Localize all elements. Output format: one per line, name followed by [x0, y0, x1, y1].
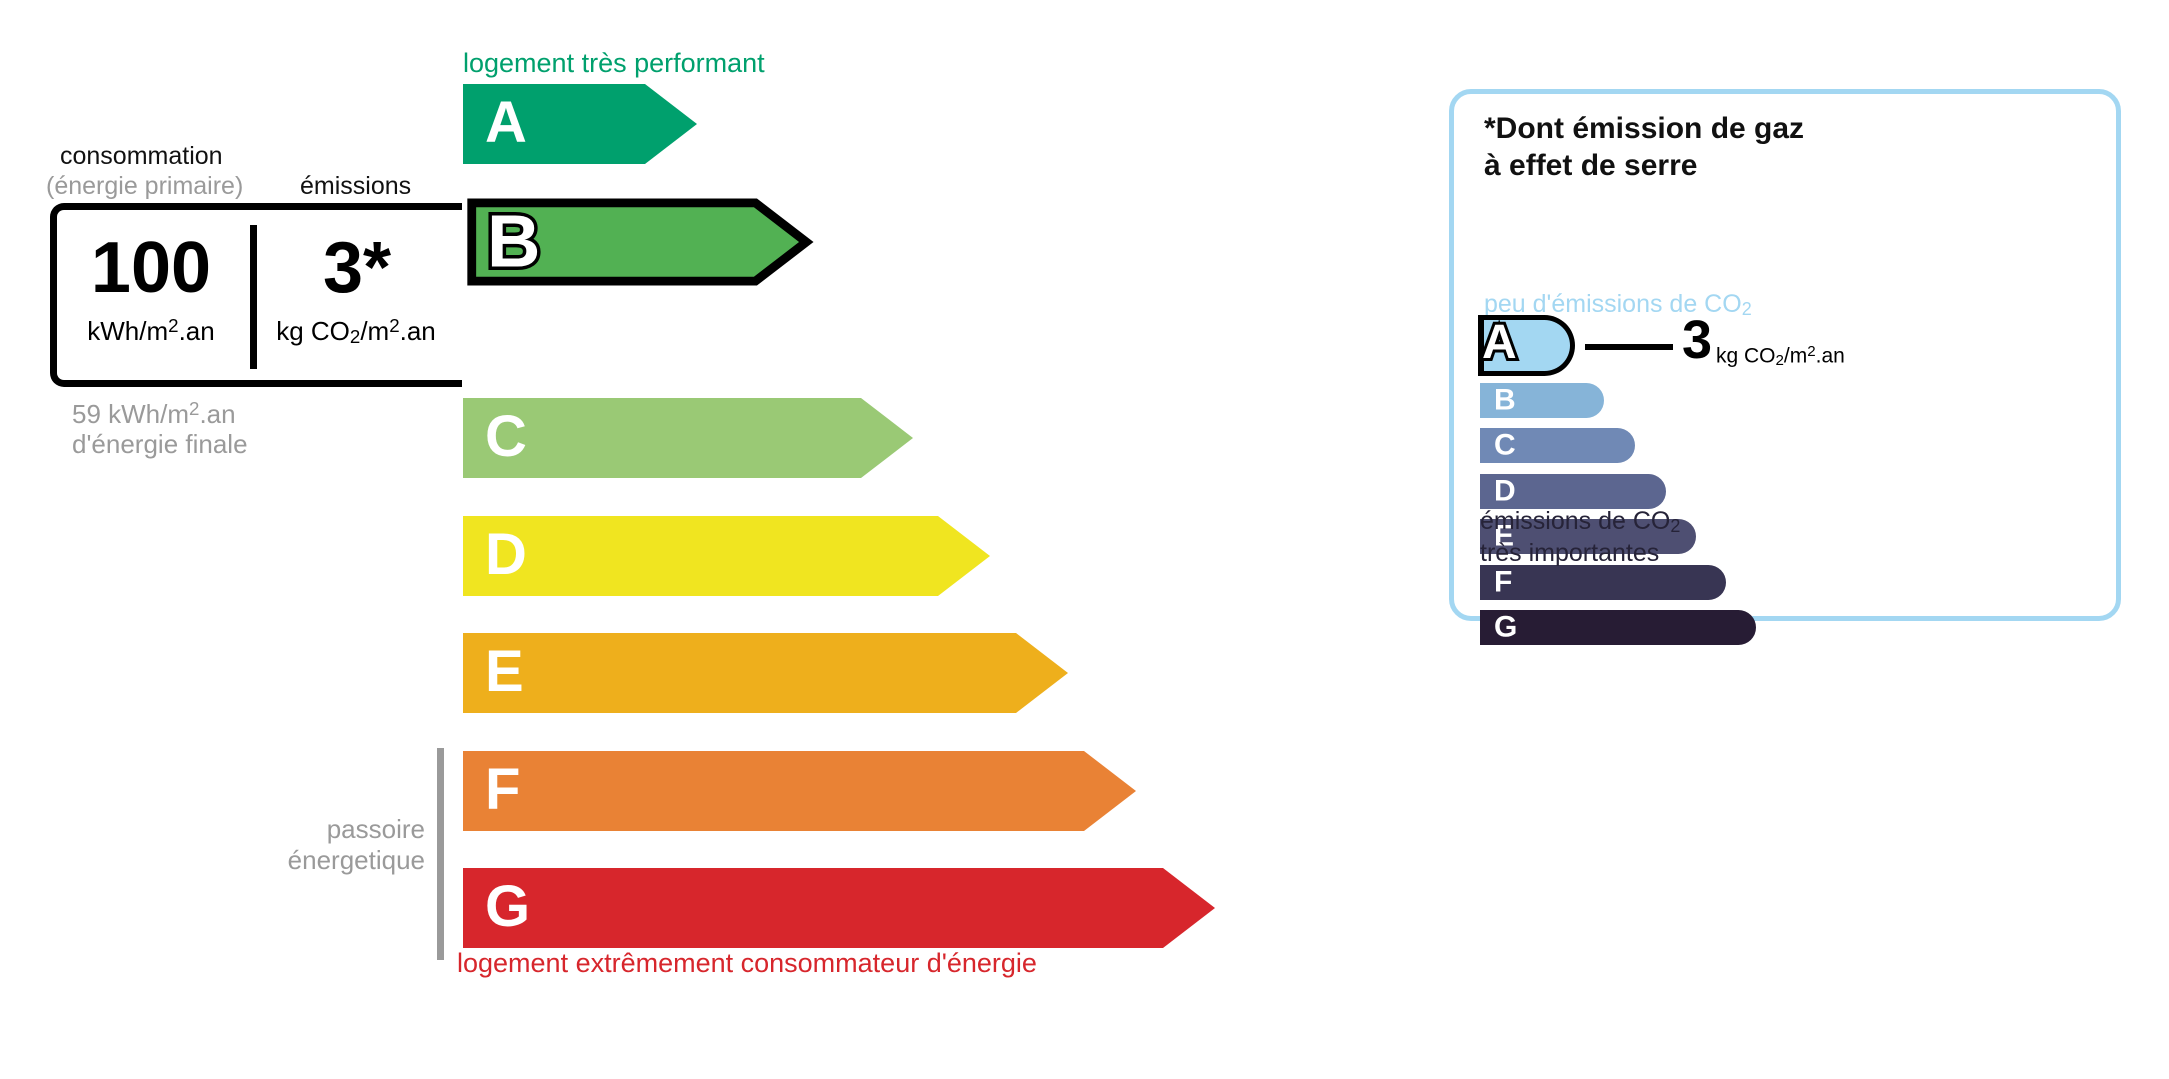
- ges-bar-c: C: [1480, 428, 1635, 463]
- energy-class-letter-g: G: [485, 878, 530, 936]
- primary-energy-value: 100: [56, 232, 246, 304]
- ges-class-letter-g: G: [1494, 612, 1517, 642]
- emissions-header: émissions: [300, 172, 411, 201]
- ges-bar-g: G: [1480, 610, 1756, 645]
- energy-bottom-caption: logement extrêmement consommateur d'éner…: [457, 948, 1037, 979]
- consumption-subheader: (énergie primaire): [46, 172, 243, 201]
- ges-class-letter-f: F: [1494, 567, 1512, 597]
- energy-class-letter-b: B: [487, 205, 540, 279]
- energy-bar-g: G: [463, 868, 1215, 948]
- energy-bar-e: E: [463, 633, 1068, 713]
- energy-class-letter-f: F: [485, 761, 520, 819]
- ges-title: *Dont émission de gaz à effet de serre: [1484, 111, 1804, 184]
- ges-value: 3: [1682, 313, 1712, 367]
- consumption-header: consommation: [60, 142, 223, 171]
- ges-panel: *Dont émission de gaz à effet de serre p…: [1449, 89, 2121, 621]
- passoire-label: passoireénergetique: [275, 814, 425, 876]
- energy-class-letter-a: A: [485, 94, 527, 152]
- co2-unit: kg CO2/m2.an: [258, 315, 454, 348]
- energy-bar-c: C: [463, 398, 913, 478]
- energy-class-letter-e: E: [485, 643, 524, 701]
- ges-class-letter-b: B: [1494, 385, 1516, 415]
- primary-energy-unit: kWh/m2.an: [56, 315, 246, 347]
- ges-bar-b: B: [1480, 383, 1604, 418]
- ges-leader-line: [1585, 344, 1673, 350]
- energy-class-letter-d: D: [485, 526, 527, 584]
- energy-arrow-shape: [463, 398, 913, 478]
- energy-bar-d: D: [463, 516, 990, 596]
- passoire-marker: [437, 748, 444, 960]
- ges-class-letter-c: C: [1494, 430, 1516, 460]
- energy-arrow-shape: [463, 633, 1068, 713]
- ges-selected-letter: A: [1482, 319, 1517, 367]
- value-box-divider: [250, 225, 257, 369]
- ges-unit: kg CO2/m2.an: [1716, 343, 1845, 369]
- ges-class-letter-d: D: [1494, 476, 1516, 506]
- ges-bottom-caption: émissions de CO2très importantes: [1480, 506, 1680, 568]
- ges-bar-f: F: [1480, 565, 1726, 600]
- energy-bar-f: F: [463, 751, 1136, 831]
- energy-bar-a: A: [463, 84, 697, 164]
- dpe-label: logement très performant consommation (é…: [0, 0, 2169, 1079]
- ges-bar-d: D: [1480, 474, 1666, 509]
- energy-bar-b: B: [463, 198, 805, 288]
- energy-class-letter-c: C: [485, 408, 527, 466]
- energy-arrow-shape: [463, 516, 990, 596]
- final-energy-note: 59 kWh/m2.and'énergie finale: [72, 398, 248, 460]
- energy-scale-panel: logement très performant consommation (é…: [0, 0, 1400, 1079]
- co2-value: 3*: [262, 232, 452, 304]
- energy-arrow-shape: [463, 868, 1215, 948]
- energy-arrow-shape: [463, 751, 1136, 831]
- energy-top-caption: logement très performant: [463, 48, 765, 79]
